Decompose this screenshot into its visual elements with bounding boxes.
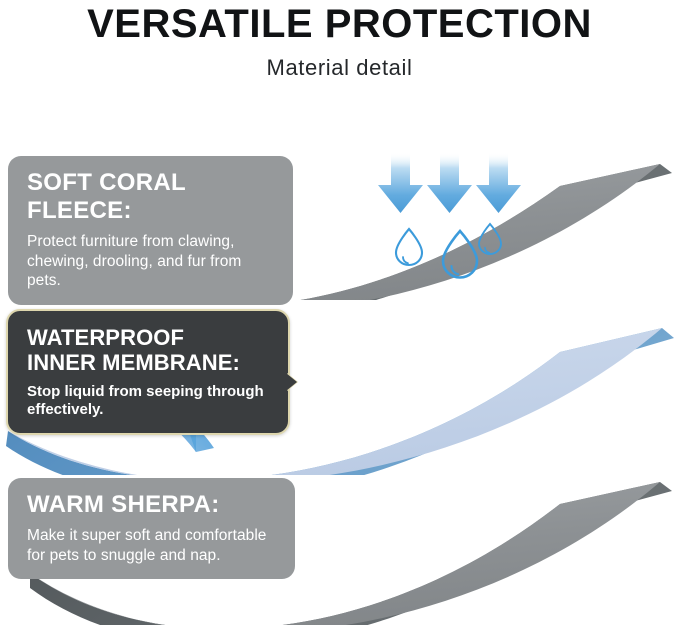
callout-title-line-2: INNER MEMBRANE:: [27, 350, 270, 375]
water-droplet-icon: [479, 224, 501, 254]
page-title: VERSATILE PROTECTION: [0, 0, 679, 46]
callout-body: Make it super soft and comfortable for p…: [27, 519, 277, 565]
water-droplet-icon: [443, 231, 477, 278]
callout-title: SOFT CORAL FLEECE:: [27, 169, 275, 225]
callout-soft-coral-fleece[interactable]: SOFT CORAL FLEECE: Protect furniture fro…: [8, 156, 293, 305]
water-droplet-icon: [485, 248, 489, 253]
water-droplet-icon: [403, 257, 408, 263]
arrow-down-icon-group: [378, 153, 521, 213]
callout-waterproof-inner-membrane[interactable]: WATERPROOF INNER MEMBRANE: Stop liquid f…: [6, 309, 290, 435]
header: VERSATILE PROTECTION Material detail: [0, 0, 679, 81]
arrow-down-icon: [476, 153, 521, 213]
arrow-down-icon: [378, 153, 423, 213]
arrow-down-icon: [427, 153, 472, 213]
callout-title-line-1: WATERPROOF: [27, 325, 270, 350]
water-droplet-icon: [452, 266, 459, 274]
callout-pointer-tail: [286, 373, 297, 391]
callout-title: WARM SHERPA:: [27, 491, 277, 519]
callout-warm-sherpa[interactable]: WARM SHERPA: Make it super soft and comf…: [8, 478, 295, 579]
page-subtitle: Material detail: [0, 46, 679, 81]
callout-body: Protect furniture from clawing, chewing,…: [27, 225, 275, 291]
infographic-canvas: VERSATILE PROTECTION Material detail: [0, 0, 679, 625]
water-droplet-icon: [396, 229, 422, 265]
water-droplet-icon-group: [396, 224, 501, 278]
callout-body: Stop liquid from seeping through effecti…: [27, 375, 270, 419]
